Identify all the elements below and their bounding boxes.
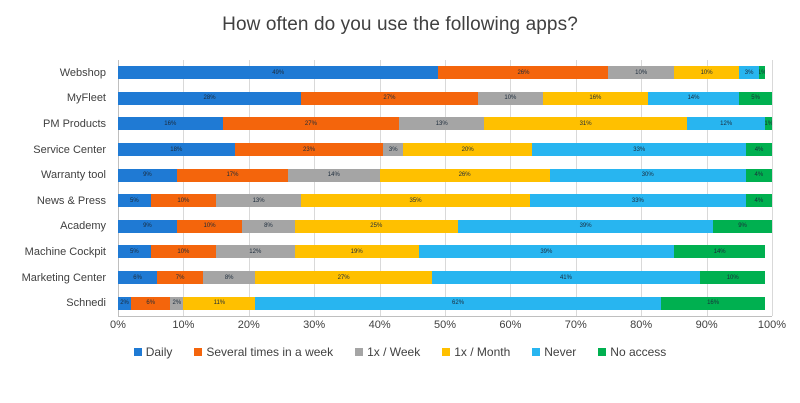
bar-segment: 5% <box>118 245 151 258</box>
plot-area: 49%26%10%10%3%1%28%27%10%16%14%5%16%27%1… <box>118 60 772 316</box>
bar-segment-label: 7% <box>176 275 185 281</box>
bar-segment-label: 4% <box>755 147 764 153</box>
legend-label: Never <box>544 345 576 359</box>
bar-segment: 1% <box>759 66 766 79</box>
bar-segment-label: 3% <box>745 70 754 76</box>
bar-segment: 9% <box>713 220 772 233</box>
bar-segment-label: 2% <box>120 300 129 306</box>
bar-segment: 39% <box>458 220 713 233</box>
bar-segment-label: 12% <box>720 121 732 127</box>
x-axis-tick-label: 80% <box>630 319 652 331</box>
legend-label: Daily <box>146 345 173 359</box>
bar-segment-label: 20% <box>462 147 474 153</box>
x-axis-tick-label: 20% <box>238 319 260 331</box>
bar-segment: 17% <box>177 169 288 182</box>
bar-segment-label: 8% <box>225 275 234 281</box>
category-label: Academy <box>0 220 112 233</box>
bar-segment-label: 10% <box>635 70 647 76</box>
bar-segment: 14% <box>674 245 766 258</box>
bar-segment-label: 16% <box>589 95 601 101</box>
category-label: Machine Cockpit <box>0 245 112 258</box>
bar-segment: 10% <box>177 220 242 233</box>
legend-label: 1x / Week <box>367 345 420 359</box>
bar-row: 5%10%13%35%33%4% <box>118 194 772 207</box>
gridline <box>772 60 773 316</box>
bar-segment-label: 12% <box>249 249 261 255</box>
legend-swatch-icon <box>532 348 540 356</box>
bar-segment-label: 9% <box>738 223 747 229</box>
bar-segment-label: 39% <box>540 249 552 255</box>
bar-segment-label: 10% <box>177 249 189 255</box>
bar-segment-label: 17% <box>226 172 238 178</box>
bar-segment-label: 30% <box>642 172 654 178</box>
bar-segment: 26% <box>438 66 608 79</box>
bar-segment-label: 35% <box>410 198 422 204</box>
bar-segment-label: 14% <box>328 172 340 178</box>
legend-swatch-icon <box>194 348 202 356</box>
bar-segment: 9% <box>118 169 177 182</box>
bar-segment-label: 4% <box>755 198 764 204</box>
bar-segment-label: 10% <box>727 275 739 281</box>
bar-segment-label: 16% <box>707 300 719 306</box>
bar-segment-label: 26% <box>517 70 529 76</box>
bar-segment: 19% <box>295 245 419 258</box>
bar-row: 49%26%10%10%3%1% <box>118 66 772 79</box>
x-axis-tick-label: 100% <box>758 319 786 331</box>
bar-segment: 49% <box>118 66 438 79</box>
bar-segment: 4% <box>746 169 772 182</box>
bar-segment: 62% <box>255 297 660 310</box>
bar-segment: 16% <box>661 297 766 310</box>
bar-segment: 27% <box>223 117 400 130</box>
bar-segment: 9% <box>118 220 177 233</box>
chart-container: How often do you use the following apps?… <box>0 0 800 403</box>
bar-segment: 10% <box>478 92 543 105</box>
x-axis-labels: 0%10%20%30%40%50%60%70%80%90%100% <box>118 319 772 337</box>
bar-segment: 28% <box>118 92 301 105</box>
bar-segment-label: 14% <box>687 95 699 101</box>
bar-segment-label: 11% <box>214 300 226 306</box>
bar-segment-label: 3% <box>389 147 398 153</box>
bar-segment: 25% <box>295 220 459 233</box>
bar-segment: 14% <box>288 169 380 182</box>
bar-segment-label: 10% <box>204 223 216 229</box>
bar-row: 18%23%3%20%33%4% <box>118 143 772 156</box>
bar-segment-label: 6% <box>146 300 155 306</box>
x-axis-tick-label: 70% <box>565 319 587 331</box>
legend-item[interactable]: Never <box>532 345 576 359</box>
legend-item[interactable]: Several times in a week <box>194 345 333 359</box>
bar-segment: 2% <box>118 297 131 310</box>
bar-segment-label: 27% <box>338 275 350 281</box>
x-axis-tick-label: 50% <box>434 319 456 331</box>
bar-segment-label: 27% <box>383 95 395 101</box>
bar-row: 28%27%10%16%14%5% <box>118 92 772 105</box>
bar-segment: 13% <box>216 194 301 207</box>
bar-segment: 10% <box>151 194 216 207</box>
bar-segment: 8% <box>203 271 255 284</box>
category-label: News & Press <box>0 194 112 207</box>
bar-segment-label: 9% <box>143 172 152 178</box>
legend-swatch-icon <box>355 348 363 356</box>
x-axis-tick-label: 30% <box>303 319 325 331</box>
bar-segment: 13% <box>399 117 484 130</box>
bar-row: 2%6%2%11%62%16% <box>118 297 772 310</box>
bar-segment: 23% <box>235 143 384 156</box>
bar-segment-label: 4% <box>755 172 764 178</box>
bar-rows: 49%26%10%10%3%1%28%27%10%16%14%5%16%27%1… <box>118 60 772 316</box>
bar-segment-label: 27% <box>305 121 317 127</box>
legend-item[interactable]: No access <box>598 345 666 359</box>
bar-segment: 10% <box>608 66 673 79</box>
legend-item[interactable]: 1x / Month <box>442 345 510 359</box>
bar-segment-label: 2% <box>173 300 182 306</box>
bar-segment: 12% <box>687 117 765 130</box>
legend-swatch-icon <box>134 348 142 356</box>
bar-segment: 5% <box>739 92 772 105</box>
bar-segment: 27% <box>255 271 432 284</box>
bar-segment-label: 8% <box>264 223 273 229</box>
bar-segment: 39% <box>419 245 674 258</box>
bar-segment-label: 18% <box>170 147 182 153</box>
legend-label: Several times in a week <box>206 345 333 359</box>
bar-segment-label: 62% <box>452 300 464 306</box>
bar-segment: 26% <box>380 169 550 182</box>
bar-segment-label: 33% <box>632 198 644 204</box>
category-label: Marketing Center <box>0 271 112 284</box>
bar-segment: 33% <box>530 194 746 207</box>
bar-segment: 20% <box>403 143 533 156</box>
bar-segment: 33% <box>532 143 746 156</box>
bar-segment: 4% <box>746 194 772 207</box>
x-axis-tick-label: 90% <box>696 319 718 331</box>
bar-segment-label: 10% <box>177 198 189 204</box>
bar-segment: 4% <box>746 143 772 156</box>
bar-segment-label: 26% <box>459 172 471 178</box>
bar-segment: 30% <box>550 169 746 182</box>
bar-segment-label: 10% <box>504 95 516 101</box>
bar-segment-label: 41% <box>560 275 572 281</box>
legend-item[interactable]: Daily <box>134 345 173 359</box>
bar-segment: 35% <box>301 194 530 207</box>
category-label: Schnedi <box>0 297 112 310</box>
bar-segment: 14% <box>648 92 740 105</box>
chart-title: How often do you use the following apps? <box>0 14 800 36</box>
chart-legend: DailySeveral times in a week1x / Week1x … <box>0 345 800 359</box>
bar-segment-label: 13% <box>253 198 265 204</box>
bar-row: 9%17%14%26%30%4% <box>118 169 772 182</box>
bar-segment-label: 31% <box>580 121 592 127</box>
x-axis-tick-label: 0% <box>110 319 126 331</box>
bar-segment-label: 14% <box>714 249 726 255</box>
legend-label: 1x / Month <box>454 345 510 359</box>
bar-segment-label: 5% <box>751 95 760 101</box>
legend-swatch-icon <box>598 348 606 356</box>
x-axis-tick-label: 10% <box>172 319 194 331</box>
bar-segment-label: 5% <box>130 198 139 204</box>
bar-segment-label: 6% <box>133 275 142 281</box>
x-axis-line <box>118 316 772 317</box>
category-axis-labels: WebshopMyFleetPM ProductsService CenterW… <box>0 60 112 316</box>
bar-segment-label: 13% <box>436 121 448 127</box>
bar-segment: 1% <box>765 117 772 130</box>
legend-label: No access <box>610 345 666 359</box>
bar-segment: 5% <box>118 194 151 207</box>
bar-segment: 8% <box>242 220 294 233</box>
category-label: Warranty tool <box>0 169 112 182</box>
bar-segment-label: 1% <box>765 121 772 127</box>
x-axis-tick-label: 60% <box>499 319 521 331</box>
bar-segment-label: 16% <box>164 121 176 127</box>
bar-segment-label: 19% <box>351 249 363 255</box>
bar-segment-label: 49% <box>272 70 284 76</box>
bar-segment: 6% <box>118 271 157 284</box>
bar-segment: 41% <box>432 271 700 284</box>
category-label: PM Products <box>0 117 112 130</box>
bar-segment: 7% <box>157 271 203 284</box>
bar-segment: 16% <box>543 92 648 105</box>
bar-segment: 18% <box>118 143 235 156</box>
bar-segment-label: 25% <box>370 223 382 229</box>
bar-segment-label: 5% <box>130 249 139 255</box>
bar-segment: 2% <box>170 297 183 310</box>
bar-segment: 11% <box>183 297 255 310</box>
bar-segment-label: 10% <box>701 70 713 76</box>
bar-row: 9%10%8%25%39%9% <box>118 220 772 233</box>
legend-swatch-icon <box>442 348 450 356</box>
bar-row: 16%27%13%31%12%1% <box>118 117 772 130</box>
bar-row: 5%10%12%19%39%14% <box>118 245 772 258</box>
category-label: Webshop <box>0 66 112 79</box>
bar-segment: 27% <box>301 92 478 105</box>
bar-segment-label: 23% <box>303 147 315 153</box>
bar-segment-label: 39% <box>580 223 592 229</box>
bar-segment: 3% <box>739 66 759 79</box>
bar-segment-label: 1% <box>759 70 766 76</box>
bar-row: 6%7%8%27%41%10% <box>118 271 772 284</box>
bar-segment-label: 33% <box>633 147 645 153</box>
bar-segment: 10% <box>151 245 216 258</box>
category-label: Service Center <box>0 143 112 156</box>
bar-segment: 10% <box>700 271 765 284</box>
x-axis-tick-label: 40% <box>369 319 391 331</box>
bar-segment-label: 9% <box>143 223 152 229</box>
bar-segment: 12% <box>216 245 294 258</box>
bar-segment: 6% <box>131 297 170 310</box>
legend-item[interactable]: 1x / Week <box>355 345 420 359</box>
bar-segment: 10% <box>674 66 739 79</box>
bar-segment: 16% <box>118 117 223 130</box>
bar-segment: 3% <box>383 143 402 156</box>
bar-segment: 31% <box>484 117 687 130</box>
category-label: MyFleet <box>0 92 112 105</box>
bar-segment-label: 28% <box>204 95 216 101</box>
